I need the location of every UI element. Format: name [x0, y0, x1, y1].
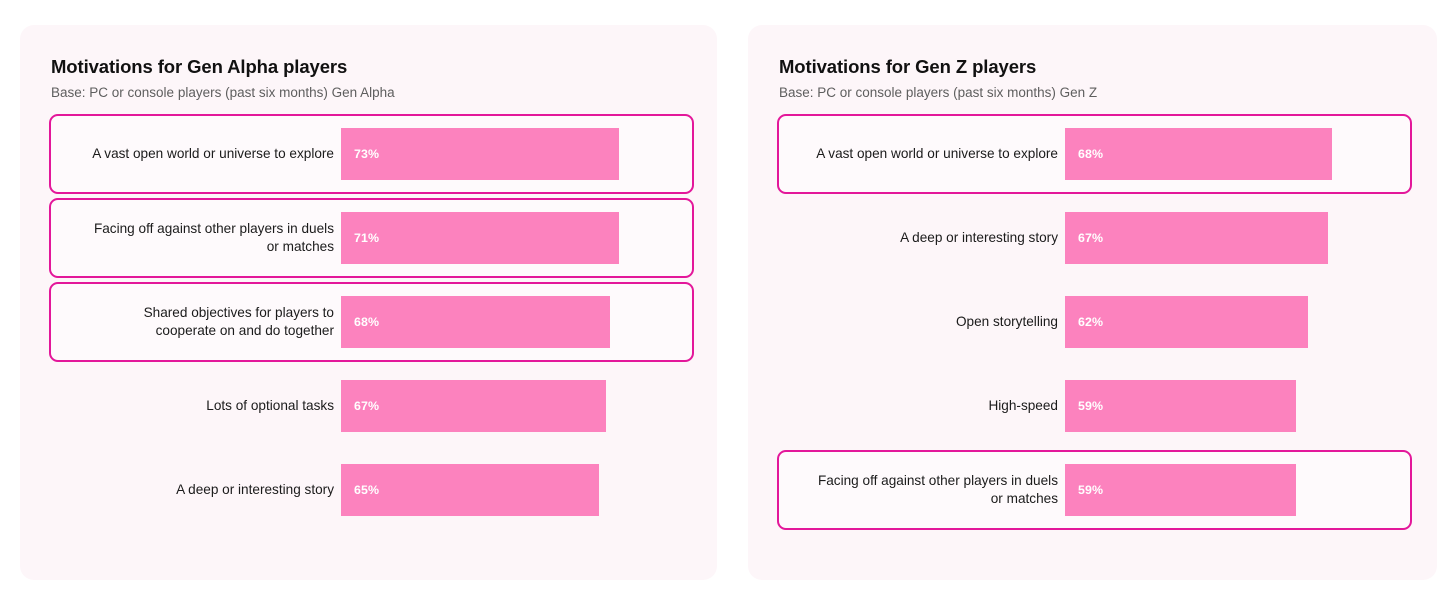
panel-header: Motivations for Gen Z players Base: PC o…: [748, 55, 1437, 102]
page-title: Motivations for Gen Alpha players: [51, 55, 687, 78]
panel-header: Motivations for Gen Alpha players Base: …: [20, 55, 717, 102]
bar-label: Facing off against other players in duel…: [20, 220, 341, 256]
bar-value: 65%: [341, 483, 379, 497]
bar-row[interactable]: Facing off against other players in duel…: [748, 448, 1437, 532]
bar-value: 62%: [1065, 315, 1103, 329]
bar-row[interactable]: A vast open world or universe to explore…: [748, 112, 1437, 196]
bar-label: Open storytelling: [748, 313, 1065, 331]
page-title: Motivations for Gen Z players: [779, 55, 1407, 78]
bar-list-gen-alpha: A vast open world or universe to explore…: [20, 112, 717, 532]
bar-label: A deep or interesting story: [748, 229, 1065, 247]
bar-value: 68%: [341, 315, 379, 329]
bar-row[interactable]: A deep or interesting story 65%: [20, 448, 717, 532]
panel-subtitle: Base: PC or console players (past six mo…: [51, 84, 687, 102]
bar: 68%: [341, 296, 610, 348]
bar-label: High-speed: [748, 397, 1065, 415]
panel-gen-z: Motivations for Gen Z players Base: PC o…: [748, 25, 1437, 580]
bar: 68%: [1065, 128, 1332, 180]
bar-row[interactable]: Open storytelling 62%: [748, 280, 1437, 364]
bar: 67%: [1065, 212, 1328, 264]
panel-gen-alpha: Motivations for Gen Alpha players Base: …: [20, 25, 717, 580]
bar: 65%: [341, 464, 599, 516]
bar: 67%: [341, 380, 606, 432]
bar-row[interactable]: Lots of optional tasks 67%: [20, 364, 717, 448]
bar: 73%: [341, 128, 619, 180]
bar: 59%: [1065, 464, 1296, 516]
bar-row[interactable]: A deep or interesting story 67%: [748, 196, 1437, 280]
bar-value: 67%: [341, 399, 379, 413]
bar-value: 59%: [1065, 399, 1103, 413]
bar-list-gen-z: A vast open world or universe to explore…: [748, 112, 1437, 532]
bar-label: A vast open world or universe to explore: [748, 145, 1065, 163]
bar-label: Lots of optional tasks: [20, 397, 341, 415]
bar-label: Shared objectives for players to coopera…: [20, 304, 341, 340]
bar-row[interactable]: Facing off against other players in duel…: [20, 196, 717, 280]
bar-value: 71%: [341, 231, 379, 245]
bar: 62%: [1065, 296, 1308, 348]
bar-row[interactable]: High-speed 59%: [748, 364, 1437, 448]
panel-subtitle: Base: PC or console players (past six mo…: [779, 84, 1407, 102]
bar: 71%: [341, 212, 619, 264]
bar-value: 73%: [341, 147, 379, 161]
bar-row[interactable]: A vast open world or universe to explore…: [20, 112, 717, 196]
bar-label: A vast open world or universe to explore: [20, 145, 341, 163]
bar: 59%: [1065, 380, 1296, 432]
bar-label: A deep or interesting story: [20, 481, 341, 499]
bar-row[interactable]: Shared objectives for players to coopera…: [20, 280, 717, 364]
dashboard: Motivations for Gen Alpha players Base: …: [0, 0, 1456, 591]
bar-value: 59%: [1065, 483, 1103, 497]
bar-value: 68%: [1065, 147, 1103, 161]
bar-label: Facing off against other players in duel…: [748, 472, 1065, 508]
bar-value: 67%: [1065, 231, 1103, 245]
